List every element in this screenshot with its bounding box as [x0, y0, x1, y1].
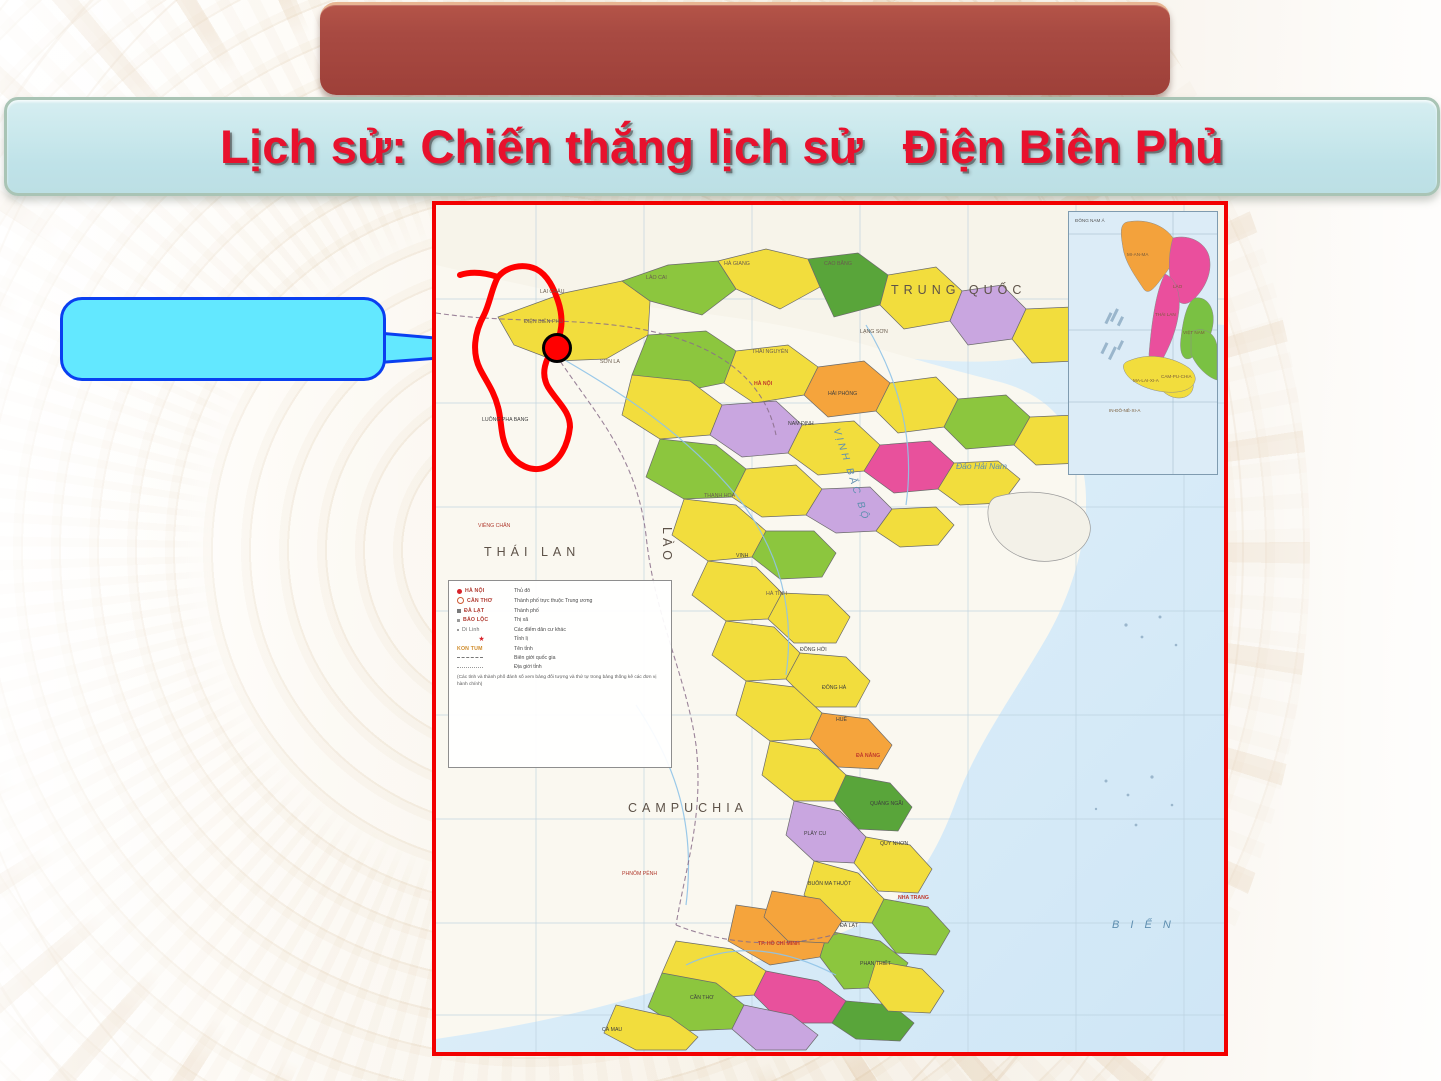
map-place-9: HẢI PHÒNG	[828, 391, 857, 397]
map-place-21: BUÔN MA THUỘT	[808, 881, 851, 887]
legend-row: Biên giới quốc gia	[457, 655, 663, 661]
legend-row: CẦN THƠ Thành phố trực thuộc Trung ương	[457, 597, 663, 604]
map-label-sea-1: Đảo Hải Nam	[956, 461, 1007, 471]
map-place-6: LẠNG SƠN	[860, 329, 888, 335]
map-label-country-1: THÁI LAN	[484, 545, 580, 559]
legend-desc: Địa giới tỉnh	[514, 664, 542, 670]
map-label-country-3: CAMPUCHIA	[628, 801, 748, 815]
legend-symbol-square: ĐÀ LẠT	[457, 608, 509, 614]
legend-symbol-ring-circle: CẦN THƠ	[457, 597, 509, 604]
slide-canvas: Lịch sử: Chiến thắng lịch sử Điện Biên P…	[0, 0, 1441, 1081]
inset-label-2: LÀO	[1173, 284, 1182, 289]
callout-body	[60, 297, 386, 381]
map-place-2: SƠN LA	[600, 359, 620, 365]
map-place-30: LUÔNG PHA BANG	[482, 417, 528, 423]
southeast-asia-inset-map: ĐÔNG NAM Á MI-AN-MA THÁI LAN LÀO VIỆT NA…	[1068, 211, 1218, 475]
map-place-28: VIÊNG CHĂN	[478, 523, 510, 529]
legend-symbol-dotted-line	[457, 667, 509, 668]
legend-row: Địa giới tỉnh	[457, 664, 663, 670]
map-canvas: TRUNG QUỐC THÁI LAN LÀO CAMPUCHIA VỊNH B…	[436, 205, 1224, 1052]
map-place-13: HÀ TĨNH	[766, 591, 787, 597]
map-place-24: PHAN THIẾT	[860, 961, 891, 967]
map-place-23: ĐÀ LẠT	[840, 923, 858, 929]
map-place-11: THANH HOÁ	[704, 493, 735, 499]
map-legend: HÀ NỘI Thủ đô CẦN THƠ Thành phố trực thu…	[448, 580, 672, 768]
map-label-country-0: TRUNG QUỐC	[891, 283, 1026, 297]
legend-note: (Các tỉnh và thành phố đánh số xem bảng …	[457, 675, 663, 687]
legend-row: KON TUM Tên tỉnh	[457, 646, 663, 652]
map-label-country-2: LÀO	[660, 527, 674, 564]
map-place-22: NHA TRANG	[898, 895, 929, 901]
legend-symbol-tiny-square: Di Linh	[457, 627, 509, 633]
inset-label-5: MA-LAI-XI-A	[1133, 378, 1159, 383]
map-place-7: THÁI NGUYÊN	[752, 349, 788, 355]
legend-row: Di Linh Các điểm dân cư khác	[457, 627, 663, 633]
map-place-17: ĐÀ NẴNG	[856, 753, 880, 759]
map-place-10: NAM ĐỊNH	[788, 421, 814, 427]
inset-label-3: VIỆT NAM	[1183, 330, 1205, 335]
legend-row: HÀ NỘI Thủ đô	[457, 588, 663, 594]
legend-desc: Các điểm dân cư khác	[514, 627, 566, 633]
map-place-26: CẦN THƠ	[690, 995, 714, 1001]
legend-row: ĐÀ LẠT Thành phố	[457, 608, 663, 614]
map-place-12: VINH	[736, 553, 748, 559]
inset-label-1: THÁI LAN	[1155, 312, 1176, 317]
map-place-5: CAO BẰNG	[824, 261, 852, 267]
legend-symbol-dashed-line	[457, 657, 509, 658]
map-place-15: ĐÔNG HÀ	[822, 685, 846, 691]
map-place-25: TP. HỒ CHÍ MINH	[758, 941, 800, 947]
map-place-19: QUY NHƠN	[880, 841, 908, 847]
legend-row: ★ Tỉnh lị	[457, 636, 663, 642]
legend-symbol-filled-red-circle: HÀ NỘI	[457, 588, 509, 594]
legend-row: BẢO LỘC Thị xã	[457, 617, 663, 623]
legend-desc: Thủ đô	[514, 588, 530, 594]
map-place-0: ĐIỆN BIÊN PHỦ	[524, 319, 563, 325]
legend-desc: Tỉnh lị	[514, 636, 528, 642]
header-plaque	[320, 2, 1170, 95]
legend-desc: Tên tỉnh	[514, 646, 533, 652]
map-place-1: LAI CHÂU	[540, 289, 564, 295]
map-place-27: CÀ MAU	[602, 1027, 622, 1033]
legend-desc: Biên giới quốc gia	[514, 655, 555, 661]
vietnam-administrative-map[interactable]: TRUNG QUỐC THÁI LAN LÀO CAMPUCHIA VỊNH B…	[432, 201, 1228, 1056]
legend-desc: Thị xã	[514, 617, 528, 623]
map-place-4: HÀ GIANG	[724, 261, 750, 267]
legend-symbol-small-square: BẢO LỘC	[457, 617, 509, 623]
map-place-16: HUẾ	[836, 717, 847, 723]
title-bar: Lịch sử: Chiến thắng lịch sử Điện Biên P…	[4, 97, 1440, 196]
inset-label-6: IN-ĐÔ-NÊ-XI-A	[1109, 408, 1140, 413]
map-place-14: ĐỒNG HỚI	[800, 647, 827, 653]
map-place-3: LÀO CAI	[646, 275, 667, 281]
inset-title: ĐÔNG NAM Á	[1075, 218, 1169, 224]
inset-label-4: CAM-PU-CHIA	[1161, 374, 1192, 379]
page-title: Lịch sử: Chiến thắng lịch sử Điện Biên P…	[220, 119, 1224, 174]
legend-symbol-label: KON TUM	[457, 646, 509, 652]
map-place-8: HÀ NỘI	[754, 381, 772, 387]
legend-desc: Thành phố trực thuộc Trung ương	[514, 598, 592, 604]
map-place-18: QUẢNG NGÃI	[870, 801, 903, 807]
legend-desc: Thành phố	[514, 608, 539, 614]
inset-label-0: MI-AN-MA	[1127, 252, 1148, 257]
legend-symbol-star: ★	[457, 637, 509, 642]
map-label-sea-2: B I Ể N	[1112, 919, 1175, 931]
map-place-29: PHNÔM PÊNH	[622, 871, 657, 877]
map-place-20: PLÂY CU	[804, 831, 826, 837]
dien-bien-phu-marker[interactable]	[542, 333, 572, 363]
